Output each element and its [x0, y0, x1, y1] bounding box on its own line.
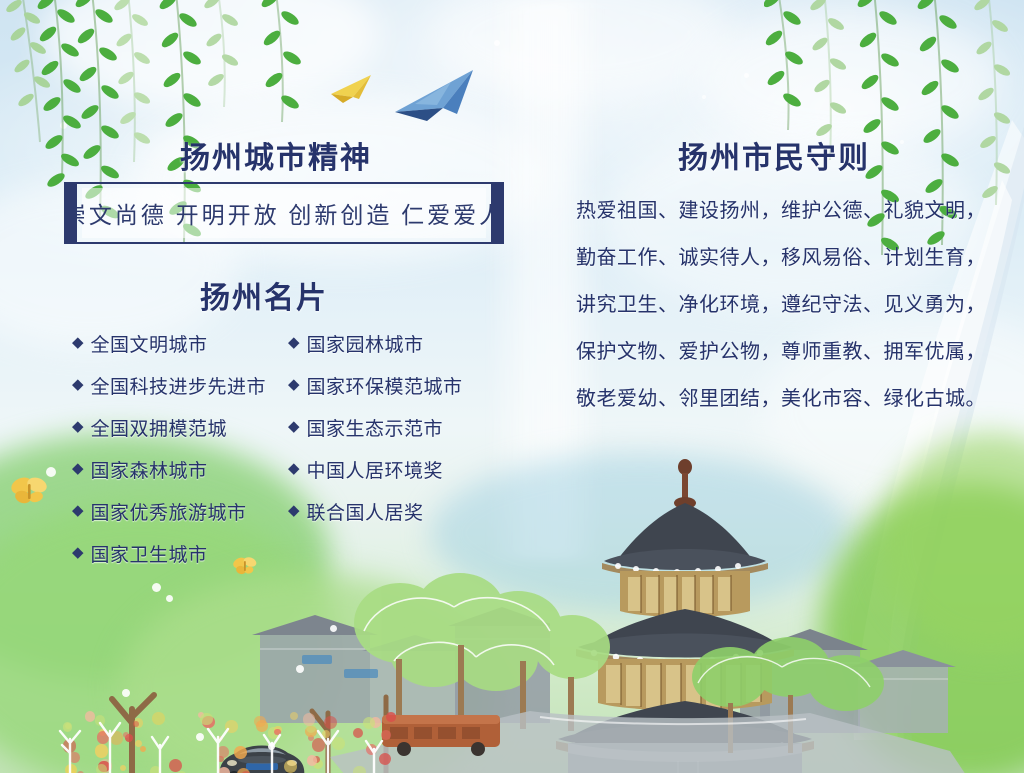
- road-sign: [344, 669, 378, 678]
- city-card-label: 全国文明城市: [91, 330, 208, 357]
- city-card-item: ◆国家园林城市: [288, 322, 463, 364]
- citizen-code-line: 讲究卫生、净化环境，遵纪守法、见义勇为，: [576, 282, 976, 329]
- flower-blossom: [95, 715, 105, 725]
- pagoda-stone-base: [558, 743, 812, 773]
- flower-blossom: [217, 756, 223, 762]
- city-cards-column-right: ◆国家园林城市◆国家环保模范城市◆国家生态示范市◆中国人居环境奖◆联合国人居奖: [288, 322, 463, 532]
- flower-blossom: [67, 769, 76, 773]
- flower-blossom: [381, 730, 391, 740]
- flower-blossom: [313, 756, 320, 763]
- blossom-dot: [166, 595, 173, 602]
- diamond-bullet-icon: ◆: [288, 462, 300, 477]
- flower-blossom: [305, 726, 317, 738]
- frame-rule-bottom: [73, 242, 495, 244]
- diamond-bullet-icon: ◆: [72, 546, 84, 561]
- foliage-mass-right: [820, 483, 1024, 773]
- city-card-label: 全国双拥模范城: [91, 414, 228, 441]
- flower-blossom: [312, 738, 325, 751]
- sparkle: [494, 40, 500, 46]
- sky-haze: [430, 453, 850, 613]
- flower-blossom: [218, 736, 223, 741]
- flower-blossom: [353, 728, 363, 738]
- flower-blossom: [63, 722, 72, 731]
- flower-blossom: [95, 744, 109, 758]
- flower-blossom: [99, 759, 112, 772]
- motto-inner-panel: 崇文尚德 开明开放 创新创造 仁爱爱人: [82, 188, 486, 238]
- sparkle: [744, 73, 749, 78]
- blossom-dot: [296, 665, 304, 673]
- flower-blossom: [306, 723, 317, 734]
- flower-blossom: [353, 766, 366, 773]
- sparkle: [947, 60, 952, 65]
- diamond-bullet-icon: ◆: [288, 336, 300, 351]
- city-card-item: ◆国家卫生城市: [72, 532, 266, 574]
- flower-blossom: [386, 712, 396, 722]
- paper-plane-yellow: [329, 73, 373, 105]
- flower-blossom: [366, 744, 377, 755]
- paper-plane-blue: [391, 68, 477, 122]
- diamond-bullet-icon: ◆: [72, 336, 84, 351]
- citizen-code-line: 热爱祖国、建设扬州，维护公德、礼貌文明，: [576, 188, 976, 235]
- cloud-wash: [700, 10, 1000, 150]
- city-card-item: ◆国家优秀旅游城市: [72, 490, 266, 532]
- tree-cluster-right: [690, 633, 890, 763]
- flower-blossom: [290, 712, 298, 720]
- white-wildflowers: [40, 673, 400, 773]
- city-card-item: ◆全国科技进步先进市: [72, 364, 266, 406]
- flower-blossom: [85, 711, 96, 722]
- city-card-item: ◆国家生态示范市: [288, 406, 463, 448]
- city-card-item: ◆联合国人居奖: [288, 490, 463, 532]
- flower-blossom: [268, 727, 279, 738]
- flower-blossom: [324, 716, 337, 729]
- blossom-dot: [122, 689, 130, 697]
- flower-blossom: [98, 761, 109, 772]
- rust-bus: [378, 705, 508, 761]
- bare-tree-left: [300, 691, 360, 773]
- citizen-code-line: 保护文物、爱护公物，尊师重教、拥军优属，: [576, 329, 976, 376]
- flower-blossom: [169, 759, 183, 773]
- flower-blossom: [150, 766, 161, 773]
- flower-blossom: [69, 752, 79, 762]
- traditional-buildings-left: [250, 593, 550, 723]
- flower-blossom: [363, 717, 375, 729]
- citizen-code-line: 敬老爱幼、邻里团结，美化市容、绿化古城。: [576, 376, 976, 423]
- city-card-label: 国家环保模范城市: [307, 372, 463, 399]
- flower-blossom: [274, 726, 281, 733]
- road: [330, 711, 970, 773]
- flower-blossom: [96, 764, 108, 773]
- blossom-dot: [196, 733, 204, 741]
- bare-tree-left: [96, 673, 176, 773]
- sedan-car: [212, 733, 312, 773]
- road-sign: [302, 655, 332, 664]
- flower-blossom: [303, 713, 315, 725]
- flower-blossom: [274, 729, 281, 736]
- flower-blossom: [313, 759, 323, 769]
- flower-blossom: [256, 720, 268, 732]
- flower-blossom: [198, 712, 204, 718]
- city-card-label: 国家园林城市: [307, 330, 424, 357]
- flower-blossom: [218, 767, 231, 773]
- diamond-bullet-icon: ◆: [72, 420, 84, 435]
- city-cards-column-left: ◆全国文明城市◆全国科技进步先进市◆全国双拥模范城◆国家森林城市◆国家优秀旅游城…: [72, 322, 266, 574]
- traditional-buildings-right: [740, 603, 1020, 733]
- city-card-label: 国家卫生城市: [91, 540, 208, 567]
- blossom-dot: [268, 743, 275, 750]
- city-card-item: ◆全国双拥模范城: [72, 406, 266, 448]
- frame-rule-top: [73, 182, 495, 184]
- meadow-green: [120, 573, 500, 773]
- city-spirit-motto-text: 崇文尚德 开明开放 创新创造 仁爱爱人: [63, 196, 505, 230]
- flower-blossom: [322, 730, 330, 738]
- citizen-code-lines: 热爱祖国、建设扬州，维护公德、礼貌文明，勤奋工作、诚实待人，移风易俗、计划生育，…: [576, 188, 976, 423]
- city-card-item: ◆中国人居环境奖: [288, 448, 463, 490]
- flower-blossom: [134, 718, 144, 728]
- flower-blossom: [200, 713, 213, 726]
- flower-blossom: [63, 739, 77, 753]
- flower-blossom: [234, 746, 247, 759]
- city-card-label: 全国科技进步先进市: [91, 372, 267, 399]
- city-card-label: 国家优秀旅游城市: [91, 498, 247, 525]
- flower-blossom: [379, 753, 391, 765]
- flower-blossom: [65, 764, 77, 773]
- flower-blossom: [99, 729, 106, 736]
- city-card-label: 国家森林城市: [91, 456, 208, 483]
- flower-blossom: [123, 732, 129, 738]
- blossom-dot: [330, 625, 337, 632]
- wenchang-pavilion: [540, 453, 830, 753]
- city-card-item: ◆全国文明城市: [72, 322, 266, 364]
- flower-blossom: [370, 717, 381, 728]
- flower-blossom: [308, 735, 314, 741]
- sparkle: [60, 122, 67, 129]
- sparkle: [702, 95, 706, 99]
- flower-blossom: [120, 765, 126, 771]
- diamond-bullet-icon: ◆: [288, 378, 300, 393]
- city-card-label: 中国人居环境奖: [307, 456, 444, 483]
- flower-blossom: [133, 721, 139, 727]
- blossom-dot: [152, 583, 161, 592]
- flower-blossom: [135, 740, 142, 747]
- flower-blossom: [307, 755, 318, 766]
- flower-blossom: [140, 746, 146, 752]
- flower-blossom: [332, 737, 345, 750]
- bare-tree-left: [360, 679, 420, 773]
- diamond-bullet-icon: ◆: [72, 504, 84, 519]
- flower-blossom: [225, 720, 237, 732]
- flower-blossom: [97, 731, 109, 743]
- citizen-code-title: 扬州市民守则: [678, 133, 870, 177]
- city-card-item: ◆国家森林城市: [72, 448, 266, 490]
- butterfly-yellow: [8, 476, 50, 506]
- flower-blossom: [202, 716, 215, 729]
- flower-blossom: [125, 734, 133, 742]
- city-spirit-title: 扬州城市精神: [180, 133, 372, 177]
- flower-blossom: [254, 716, 265, 727]
- poster-canvas: 扬州城市精神 崇文尚德 开明开放 创新创造 仁爱爱人 扬州名片 ◆全国文明城市◆…: [0, 0, 1024, 773]
- city-card-item: ◆国家环保模范城市: [288, 364, 463, 406]
- sparkle: [900, 140, 904, 144]
- diamond-bullet-icon: ◆: [288, 420, 300, 435]
- citizen-code-line: 勤奋工作、诚实待人，移风易俗、计划生育，: [576, 235, 976, 282]
- city-spirit-motto-frame: 崇文尚德 开明开放 创新创造 仁爱爱人: [64, 182, 504, 244]
- flower-blossom: [237, 768, 250, 773]
- flower-blossom: [284, 760, 297, 773]
- diamond-bullet-icon: ◆: [72, 462, 84, 477]
- flower-blossom: [152, 712, 165, 725]
- flower-blossom: [217, 746, 229, 758]
- city-card-label: 国家生态示范市: [307, 414, 444, 441]
- city-cards-title: 扬州名片: [200, 273, 328, 317]
- city-card-label: 联合国人居奖: [307, 498, 424, 525]
- foliage-mass-right: [880, 433, 1024, 653]
- flower-blossom: [110, 731, 123, 744]
- tree-cluster-mid: [350, 573, 610, 753]
- flower-blossom: [65, 723, 71, 729]
- diamond-bullet-icon: ◆: [72, 378, 84, 393]
- diamond-bullet-icon: ◆: [288, 504, 300, 519]
